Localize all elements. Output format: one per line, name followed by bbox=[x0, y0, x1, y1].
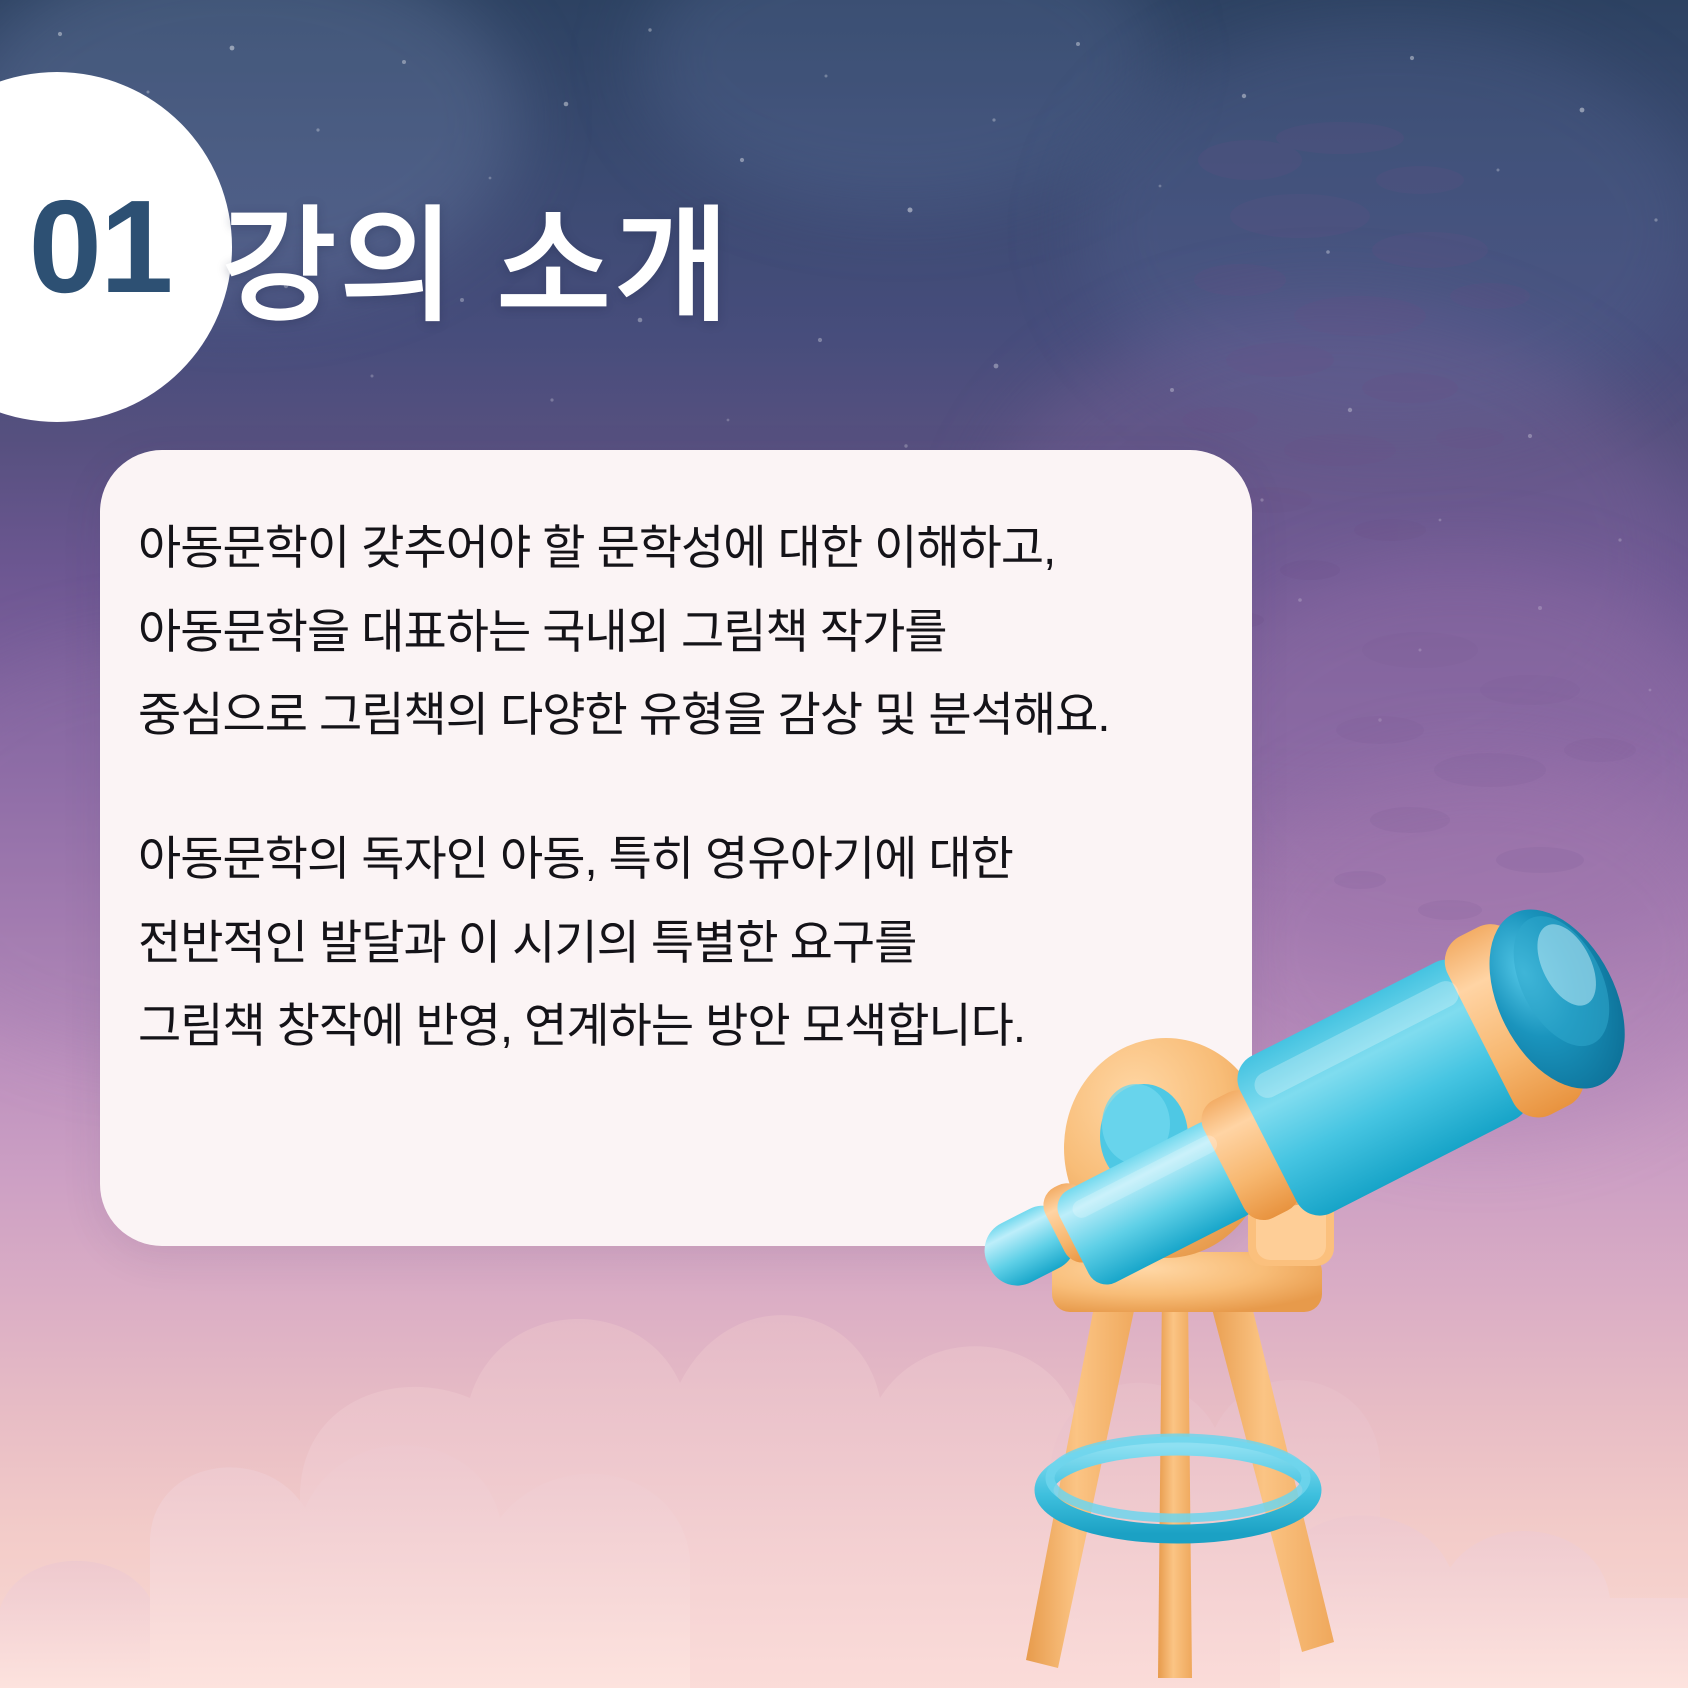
description-card: 아동문학이 갖추어야 할 문학성에 대한 이해하고, 아동문학을 대표하는 국내… bbox=[100, 450, 1252, 1246]
step-number: 01 bbox=[29, 181, 172, 313]
description-body: 아동문학이 갖추어야 할 문학성에 대한 이해하고, 아동문학을 대표하는 국내… bbox=[138, 506, 1222, 1068]
texture-mottle-icon bbox=[1300, 620, 1688, 1040]
slide-canvas: 01 강의 소개 아동문학이 갖추어야 할 문학성에 대한 이해하고, 아동문학… bbox=[0, 0, 1688, 1688]
paragraph-2-line-2: 전반적인 발달과 이 시기의 특별한 요구를 bbox=[138, 901, 1222, 985]
paragraph-gap bbox=[138, 757, 1222, 817]
paragraph-2-line-3: 그림책 창작에 반영, 연계하는 방안 모색합니다. bbox=[138, 984, 1222, 1068]
nebula-wisp bbox=[1220, 760, 1688, 1140]
nebula-wisp bbox=[1180, 560, 1688, 980]
paragraph-1-line-3: 중심으로 그림책의 다양한 유형을 감상 및 분석해요. bbox=[138, 673, 1222, 757]
page-title: 강의 소개 bbox=[222, 196, 733, 339]
paragraph-1-line-2: 아동문학을 대표하는 국내외 그림책 작가를 bbox=[138, 590, 1222, 674]
nebula-wisp bbox=[1080, 20, 1688, 440]
paragraph-1-line-1: 아동문학이 갖추어야 할 문학성에 대한 이해하고, bbox=[138, 506, 1222, 590]
texture-mottle-icon bbox=[1180, 120, 1688, 680]
paragraph-2-line-1: 아동문학의 독자인 아동, 특히 영유아기에 대한 bbox=[138, 817, 1222, 901]
step-number-badge: 01 bbox=[0, 72, 232, 422]
nebula-wisp bbox=[640, 0, 1160, 210]
